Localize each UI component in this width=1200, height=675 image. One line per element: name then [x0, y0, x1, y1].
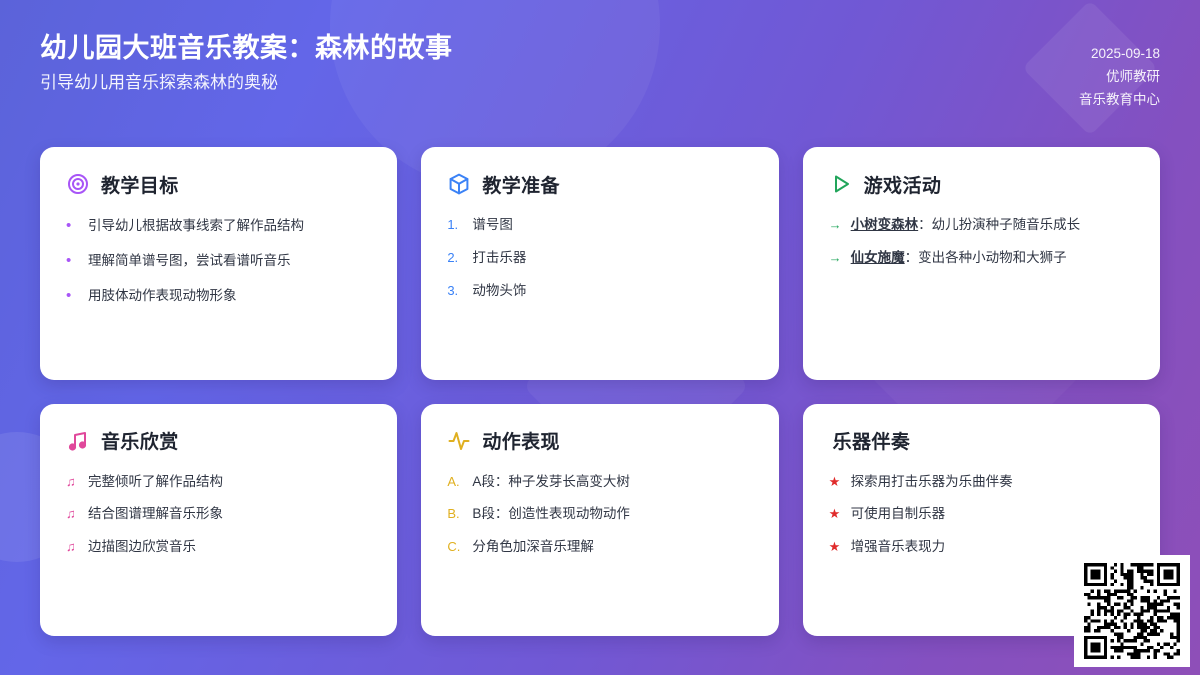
list-item-text: 理解简单谱号图，尝试看谱听音乐	[88, 251, 371, 271]
list-item[interactable]: ★可使用自制乐器	[829, 504, 1134, 524]
card-grid: 教学目标•引导幼儿根据故事线索了解作品结构•理解简单谱号图，尝试看谱听音乐•用肢…	[40, 147, 1160, 636]
card-body: ♫完整倾听了解作品结构♫结合图谱理解音乐形象♫边描图边欣赏音乐	[66, 472, 371, 558]
list-item[interactable]: ♫完整倾听了解作品结构	[66, 472, 371, 492]
list-item[interactable]: ♫结合图谱理解音乐形象	[66, 504, 371, 524]
header-department: 音乐教育中心	[1079, 91, 1160, 109]
card-body: •引导幼儿根据故事线索了解作品结构•理解简单谱号图，尝试看谱听音乐•用肢体动作表…	[66, 215, 371, 306]
play-triangle-icon	[829, 172, 853, 196]
list-item[interactable]: B.B段：创造性表现动物动作	[447, 504, 752, 524]
list-item-marker: •	[66, 215, 79, 237]
list-item[interactable]: →小树变森林：幼儿扮演种子随音乐成长	[829, 215, 1134, 235]
card-title: 乐器伴奏	[829, 427, 911, 454]
card-music-appreciation[interactable]: 音乐欣赏♫完整倾听了解作品结构♫结合图谱理解音乐形象♫边描图边欣赏音乐	[40, 404, 397, 637]
list-item-marker: ★	[829, 538, 842, 557]
list-item[interactable]: •用肢体动作表现动物形象	[66, 285, 371, 307]
list-item-text: 结合图谱理解音乐形象	[88, 504, 371, 524]
header-organization: 优师教研	[1106, 68, 1160, 86]
list-item[interactable]: C.分角色加深音乐理解	[447, 537, 752, 557]
list-item-marker: ♫	[66, 473, 79, 492]
cube-icon	[447, 172, 471, 196]
header-date: 2025-09-18	[1091, 45, 1160, 63]
page-subtitle: 引导幼儿用音乐探索森林的奥秘	[40, 73, 453, 93]
card-body: A.A段：种子发芽长高变大树B.B段：创造性表现动物动作C.分角色加深音乐理解	[447, 472, 752, 558]
list-item-lead: 小树变森林	[851, 217, 919, 232]
target-icon	[66, 172, 90, 196]
card-body: →小树变森林：幼儿扮演种子随音乐成长→仙女施魔：变出各种小动物和大狮子	[829, 215, 1134, 268]
list-item-text: A段：种子发芽长高变大树	[472, 472, 752, 492]
list-item[interactable]: ♫边描图边欣赏音乐	[66, 537, 371, 557]
list-item[interactable]: A.A段：种子发芽长高变大树	[447, 472, 752, 492]
slide-header: 幼儿园大班音乐教案：森林的故事 引导幼儿用音乐探索森林的奥秘 2025-09-1…	[0, 0, 1200, 132]
list-item-text: 仙女施魔：变出各种小动物和大狮子	[851, 248, 1134, 268]
list-item-marker: •	[66, 250, 79, 272]
card-title: 游戏活动	[864, 171, 942, 198]
list-item-text: 完整倾听了解作品结构	[88, 472, 371, 492]
list-item-marker: →	[829, 249, 842, 268]
list-item-marker: C.	[447, 538, 463, 557]
list-item-marker: 2.	[447, 249, 463, 268]
list-item[interactable]: ★探索用打击乐器为乐曲伴奏	[829, 472, 1134, 492]
card-title: 动作表现	[482, 427, 560, 454]
list-item-lead: 仙女施魔	[851, 250, 905, 265]
list-item-text: 打击乐器	[472, 248, 752, 268]
list-item-text: 边描图边欣赏音乐	[88, 537, 371, 557]
list-item-text: 分角色加深音乐理解	[472, 537, 752, 557]
list-item[interactable]: 3.动物头饰	[447, 281, 752, 301]
list-item-marker: 3.	[447, 282, 463, 301]
list-item[interactable]: •理解简单谱号图，尝试看谱听音乐	[66, 250, 371, 272]
list-item-marker: B.	[447, 505, 463, 524]
card-body: 1.谱号图2.打击乐器3.动物头饰	[447, 215, 752, 301]
header-meta: 2025-09-18 优师教研 音乐教育中心	[1079, 33, 1160, 110]
list-item-marker: A.	[447, 473, 463, 492]
card-header: 教学目标	[66, 169, 371, 199]
list-item-text: 用肢体动作表现动物形象	[88, 286, 371, 306]
card-game-activities[interactable]: 游戏活动→小树变森林：幼儿扮演种子随音乐成长→仙女施魔：变出各种小动物和大狮子	[803, 147, 1160, 380]
slide-root: 幼儿园大班音乐教案：森林的故事 引导幼儿用音乐探索森林的奥秘 2025-09-1…	[0, 0, 1200, 675]
card-body: ★探索用打击乐器为乐曲伴奏★可使用自制乐器★增强音乐表现力	[829, 472, 1134, 558]
card-header: 教学准备	[447, 169, 752, 199]
list-item[interactable]: 2.打击乐器	[447, 248, 752, 268]
list-item-text: B段：创造性表现动物动作	[472, 504, 752, 524]
list-item-detail: ：幼儿扮演种子随音乐成长	[918, 217, 1080, 232]
list-item-marker: ★	[829, 473, 842, 492]
list-item-text: 增强音乐表现力	[851, 537, 1134, 557]
card-teaching-preparation[interactable]: 教学准备1.谱号图2.打击乐器3.动物头饰	[421, 147, 778, 380]
list-item-marker: →	[829, 216, 842, 235]
qr-code-image	[1082, 563, 1182, 659]
activity-pulse-icon	[447, 429, 471, 453]
list-item-text: 引导幼儿根据故事线索了解作品结构	[88, 216, 371, 236]
list-item[interactable]: 1.谱号图	[447, 215, 752, 235]
list-item[interactable]: →仙女施魔：变出各种小动物和大狮子	[829, 248, 1134, 268]
list-item-marker: •	[66, 285, 79, 307]
list-item-detail: ：变出各种小动物和大狮子	[905, 250, 1067, 265]
card-movement-expression[interactable]: 动作表现A.A段：种子发芽长高变大树B.B段：创造性表现动物动作C.分角色加深音…	[421, 404, 778, 637]
card-header: 音乐欣赏	[66, 426, 371, 456]
card-header: 游戏活动	[829, 169, 1134, 199]
card-title: 教学准备	[482, 171, 560, 198]
card-teaching-goals[interactable]: 教学目标•引导幼儿根据故事线索了解作品结构•理解简单谱号图，尝试看谱听音乐•用肢…	[40, 147, 397, 380]
list-item-marker: 1.	[447, 216, 463, 235]
qr-code[interactable]	[1074, 555, 1190, 667]
list-item[interactable]: •引导幼儿根据故事线索了解作品结构	[66, 215, 371, 237]
card-header: 动作表现	[447, 426, 752, 456]
header-left: 幼儿园大班音乐教案：森林的故事 引导幼儿用音乐探索森林的奥秘	[40, 33, 453, 93]
card-title: 教学目标	[101, 171, 179, 198]
list-item-text: 探索用打击乐器为乐曲伴奏	[851, 472, 1134, 492]
card-header: 乐器伴奏	[829, 426, 1134, 456]
music-note-icon	[66, 429, 90, 453]
list-item-text: 动物头饰	[472, 281, 752, 301]
list-item-text: 可使用自制乐器	[851, 504, 1134, 524]
list-item-text: 小树变森林：幼儿扮演种子随音乐成长	[851, 215, 1134, 235]
list-item-marker: ♫	[66, 538, 79, 557]
page-title: 幼儿园大班音乐教案：森林的故事	[40, 33, 453, 64]
card-title: 音乐欣赏	[101, 427, 179, 454]
list-item-marker: ★	[829, 505, 842, 524]
list-item-text: 谱号图	[472, 215, 752, 235]
list-item-marker: ♫	[66, 505, 79, 524]
